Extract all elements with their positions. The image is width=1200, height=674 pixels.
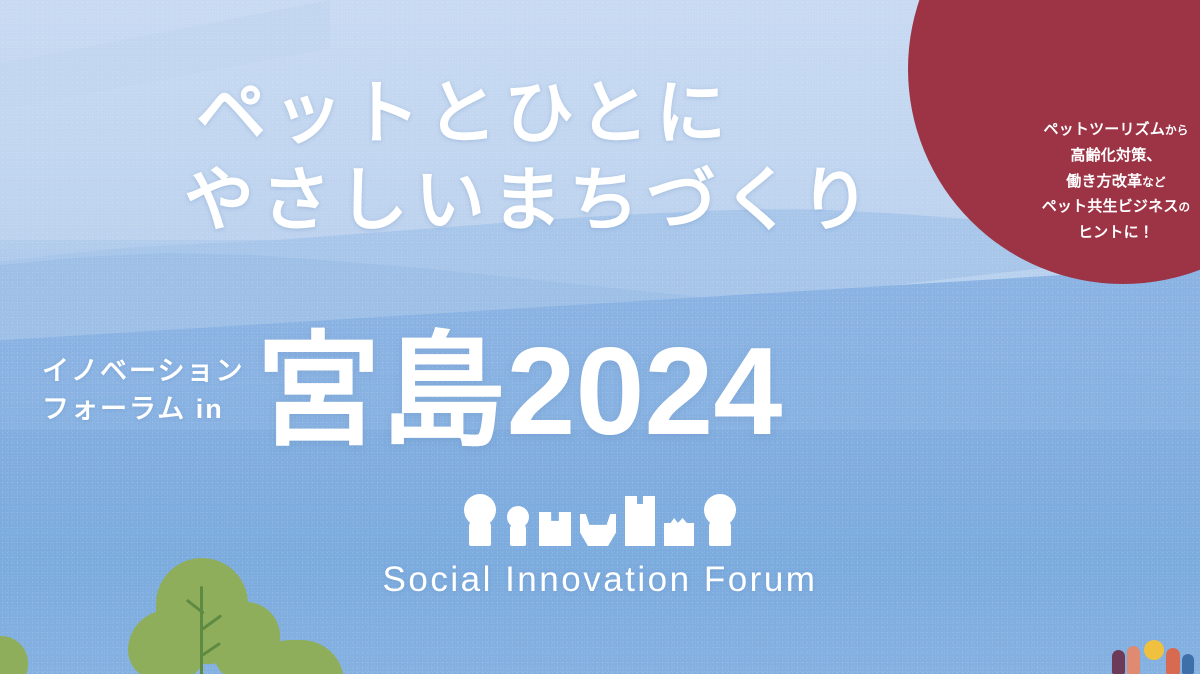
person-large-icon	[463, 494, 497, 546]
figure-yellow-icon	[1144, 640, 1164, 660]
forum-place: 宮島	[256, 323, 506, 461]
badge-line-1: ペットツーリズムから	[986, 117, 1200, 143]
person-small-icon	[506, 506, 530, 546]
figure-purple-icon	[1112, 650, 1125, 674]
forum-kicker: イノベーション フォーラム in	[42, 352, 244, 433]
shrub-illustration	[248, 640, 344, 674]
forum-main-title: 宮島2024	[256, 330, 782, 454]
figure-peach-icon	[1127, 646, 1140, 674]
badge-text: ペットツーリズムから 高齢化対策、 働き方改革など ペット共生ビジネスの ヒント…	[986, 117, 1200, 246]
poster-headline: ペットとひとに やさしいまちづくり	[196, 72, 877, 241]
highlight-badge: ペットツーリズムから 高齢化対策、 働き方改革など ペット共生ビジネスの ヒント…	[908, 0, 1200, 284]
foliage-edge-icon	[0, 636, 28, 674]
forum-english-name: Social Innovation Forum	[383, 560, 818, 600]
tower-notch-icon	[625, 496, 655, 546]
headline-line-2: やさしいまちづくり	[184, 159, 877, 242]
pictogram-row	[463, 492, 737, 546]
badge-line-5: ヒントに！	[986, 220, 1200, 246]
figure-red-icon	[1166, 648, 1180, 674]
pet-crown-icon	[580, 514, 616, 546]
headline-line-1: ペットとひとに	[196, 72, 877, 155]
forum-kicker-line-1: イノベーション	[42, 352, 244, 390]
forum-title-lockup: イノベーション フォーラム in 宮島2024	[42, 330, 782, 454]
forum-mark: Social Innovation Forum	[0, 492, 1200, 600]
event-poster: ペットとひとに やさしいまちづくり イノベーション フォーラム in 宮島202…	[0, 0, 1200, 674]
people-figures-illustration	[1108, 638, 1200, 674]
badge-line-3: 働き方改革など	[986, 169, 1200, 195]
pet-zigzag-icon	[664, 518, 694, 546]
figure-blue-icon	[1182, 654, 1194, 674]
forum-year: 2024	[506, 323, 782, 461]
forum-kicker-line-2: フォーラム in	[42, 390, 244, 428]
person-large-icon-2	[703, 494, 737, 546]
pet-square-ears-icon	[539, 512, 571, 546]
badge-line-4: ペット共生ビジネスの	[986, 194, 1200, 220]
badge-line-2: 高齢化対策、	[986, 143, 1200, 169]
